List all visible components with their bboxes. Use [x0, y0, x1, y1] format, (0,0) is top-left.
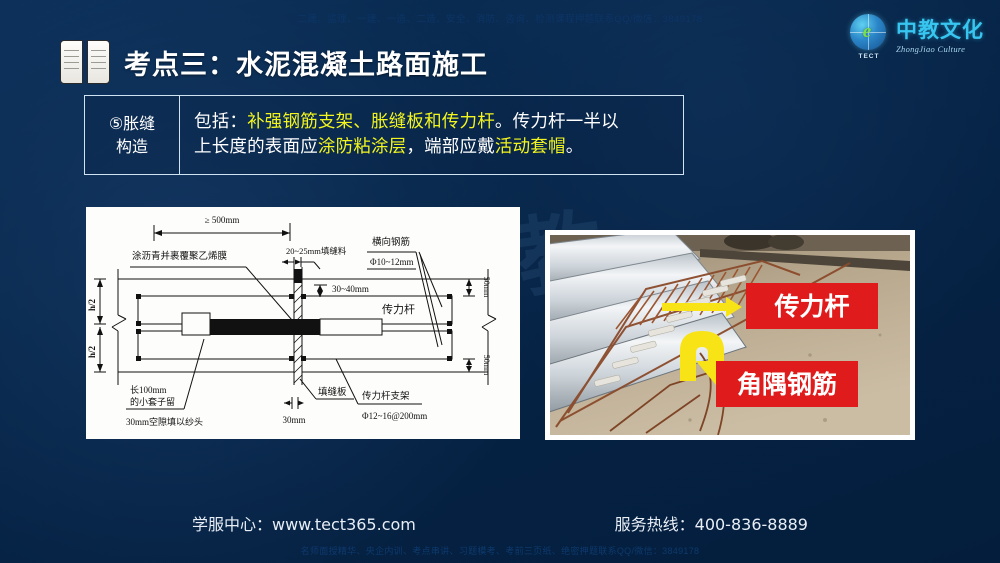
diagram-label-sleeve-1: 长100mm [130, 384, 167, 395]
highlighted-text: 补强钢筋支架、胀缝板和传力杆 [247, 112, 495, 132]
diagram-label-dowel-support: 传力杆支架 [362, 390, 410, 402]
svg-text:角隅钢筋: 角隅钢筋 [737, 370, 837, 399]
expansion-joint-diagram: ≥ 500mm 20~25mm填缝料 横向钢筋 Φ10~12mm [86, 207, 520, 439]
diagram-label-dowel-support-spec: Φ12~16@200mm [362, 411, 427, 421]
diagram-label-asphalt-film: 涂沥青并裹覆聚乙烯膜 [132, 250, 228, 262]
construction-photo: 传力杆 角隅钢筋 [545, 230, 915, 440]
open-book-icon [60, 40, 110, 84]
logo-wordmark: 中教文化 ZhongJiao Culture [896, 20, 984, 54]
footer-right-text: 服务热线：400-836-8889 [615, 511, 808, 535]
diagram-label-30mm: 30mm [282, 415, 305, 425]
content-box-label: ⑤胀缝 构造 [85, 96, 180, 174]
plain-text: 上长度的表面应 [194, 137, 318, 157]
plain-text: 包括： [194, 112, 247, 132]
svg-text:传力杆: 传力杆 [773, 292, 849, 321]
page-title: 考点三：水泥混凝土路面施工 [124, 43, 488, 82]
diagram-label-gauze: 30mm空隙填以纱头 [126, 416, 203, 427]
diagram-label-top-dim: ≥ 500mm [205, 215, 240, 225]
diagram-label-50mm-bottom: 50mm [482, 355, 491, 376]
content-box-label-line2: 构造 [116, 138, 148, 156]
diagram-label-filler: 20~25mm填缝料 [286, 246, 347, 256]
book-right-page [87, 40, 110, 84]
logo-name-cn: 中教文化 [896, 20, 984, 41]
diagram-label-transverse-bar-spec: Φ10~12mm [370, 257, 413, 267]
plain-text: 。 [566, 137, 584, 157]
diagram-label-sleeve-2: 的小套子留 [130, 396, 175, 407]
plain-text: 。传力杆一半以 [495, 112, 619, 132]
diagram-label-h2-top: h/2 [87, 299, 97, 312]
logo-tect-text: TECT [848, 53, 890, 60]
globe-icon: e TECT [848, 14, 890, 60]
photo-svg: 传力杆 角隅钢筋 [550, 235, 910, 435]
diagram-label-transverse-bar: 横向钢筋 [372, 236, 410, 248]
content-box: ⑤胀缝 构造 包括：补强钢筋支架、胀缝板和传力杆。传力杆一半以 上长度的表面应涂… [84, 95, 684, 175]
diagram-label-h2-bottom: h/2 [87, 346, 97, 359]
plain-text: ，端部应戴 [406, 137, 495, 157]
highlighted-text: 涂防粘涂层 [318, 137, 407, 157]
content-body-line-2: 上长度的表面应涂防粘涂层，端部应戴活动套帽。 [194, 135, 671, 160]
slide-root: 二建、监理、一建、一造、二造、安全、消防、咨询、检测课程押题联系QQ/微信：38… [0, 0, 1000, 563]
logo-glyph: e [857, 21, 877, 43]
content-body-line-1: 包括：补强钢筋支架、胀缝板和传力杆。传力杆一半以 [194, 110, 671, 135]
diagram-label-joint-board: 填缝板 [318, 386, 347, 398]
diagram-label-dowel-bar: 传力杆 [382, 302, 415, 316]
content-box-label-line1: ⑤胀缝 [109, 115, 155, 133]
diagram-label-50mm-top: 50mm [482, 277, 491, 298]
photo-image: 传力杆 角隅钢筋 [550, 235, 910, 435]
bottom-watermark-text: 名师面授精华、央企内训、考点串讲、习题模考、考前三页纸、绝密押题联系QQ/微信：… [0, 544, 1000, 557]
book-left-page [60, 40, 83, 84]
logo-name-en: ZhongJiao Culture [896, 45, 984, 54]
diagram-label-cover-depth: 30~40mm [332, 284, 369, 294]
footer-left-text: 学服中心：www.tect365.com [192, 511, 416, 535]
content-box-body: 包括：补强钢筋支架、胀缝板和传力杆。传力杆一半以 上长度的表面应涂防粘涂层，端部… [180, 96, 683, 174]
highlighted-text: 活动套帽 [495, 137, 566, 157]
page-title-row: 考点三：水泥混凝土路面施工 [60, 40, 488, 84]
diagram-svg: ≥ 500mm 20~25mm填缝料 横向钢筋 Φ10~12mm [86, 207, 520, 439]
brand-logo: e TECT 中教文化 ZhongJiao Culture [848, 14, 984, 60]
